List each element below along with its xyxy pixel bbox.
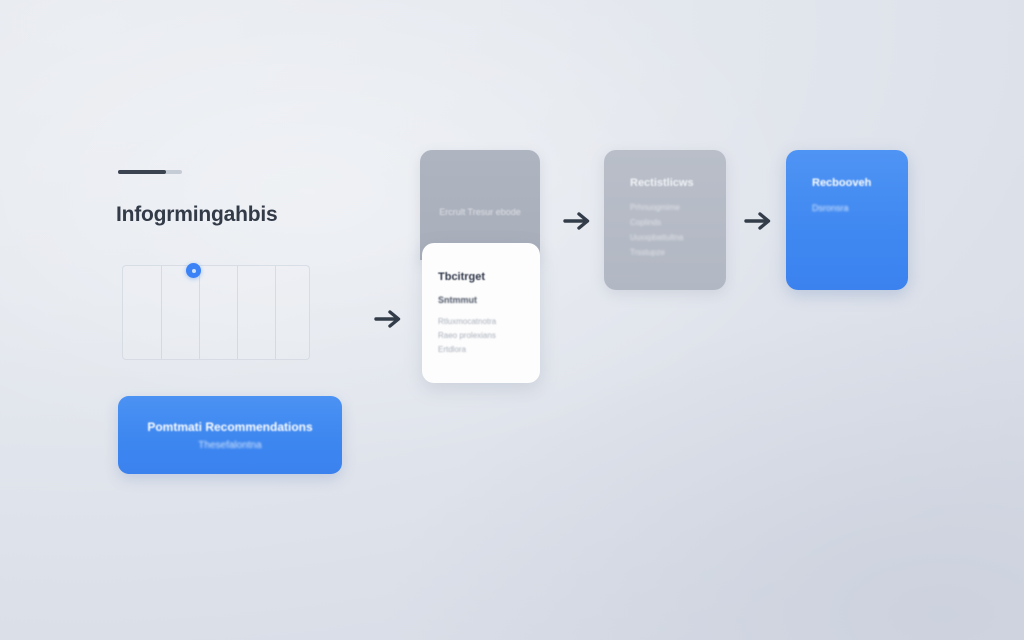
panel-divider-3 [237, 266, 238, 359]
panel-divider-1 [161, 266, 162, 359]
stage-detail-list: Rtluxmocatnotra Raeo prolexians Ertdlora [438, 317, 524, 354]
list-item: Prhnuogmime [630, 203, 708, 212]
progress-fill [118, 170, 166, 174]
stage-result-subtitle: Dsronsra [812, 203, 890, 213]
stage-detail-card[interactable]: Tbcitrget Sntmmut Rtluxmocatnotra Raeo p… [422, 243, 540, 383]
arrow-right-icon [373, 306, 403, 332]
cta-title: Pomtmati Recommendations [147, 420, 312, 434]
panel-divider-2 [199, 266, 200, 359]
list-item: Raeo prolexians [438, 331, 524, 340]
cta-subtitle: Thesefalontna [198, 440, 261, 451]
blue-marker-dot[interactable] [186, 263, 201, 278]
stage-result-card[interactable]: Recbooveh Dsronsra [786, 150, 908, 290]
list-item: Ertdlora [438, 345, 524, 354]
list-item: Coplinds [630, 218, 708, 227]
stage-restrictions-title: Rectistlicws [630, 177, 708, 189]
recommendations-cta-card[interactable]: Pomtmati Recommendations Thesefalontna [118, 396, 342, 474]
stage-detail-title: Tbcitrget [438, 271, 524, 283]
arrow-right-icon [562, 208, 592, 234]
stage-result-title: Recbooveh [812, 177, 890, 189]
page-title: Infogrmingahbis [116, 203, 278, 227]
arrow-right-icon [743, 208, 773, 234]
stage-detail-subtitle: Sntmmut [438, 295, 524, 305]
stage-restrictions-card[interactable]: Rectistlicws Prhnuogmime Coplinds Uuxxpb… [604, 150, 726, 290]
list-item: Rtluxmocatnotra [438, 317, 524, 326]
faint-data-panel [122, 265, 310, 360]
list-item: Trsstupze [630, 248, 708, 257]
stage-behind-card-label: Ercrult Tresur ebode [420, 207, 540, 217]
stage-restrictions-list: Prhnuogmime Coplinds Uuxxpbattultna Trss… [630, 203, 708, 257]
list-item: Uuxxpbattultna [630, 233, 708, 242]
panel-divider-4 [275, 266, 276, 359]
